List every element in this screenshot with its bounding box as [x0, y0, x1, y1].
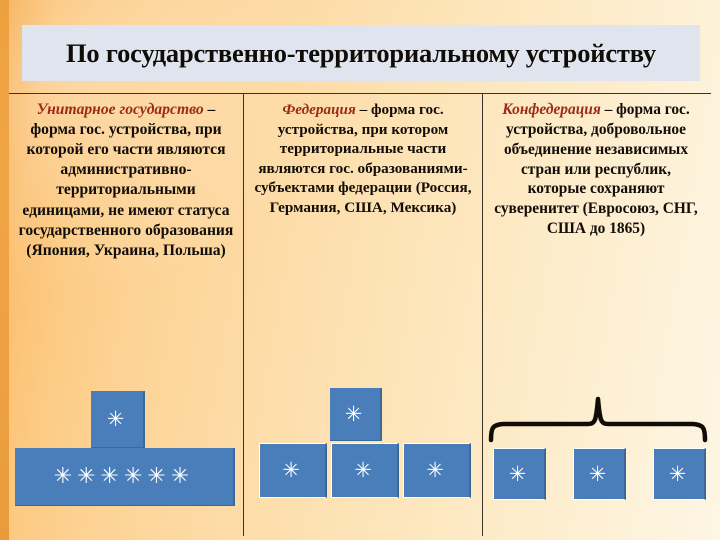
- federation-diagram: ✳ ✳ ✳ ✳: [244, 386, 482, 536]
- confederation-term: Конфедерация: [502, 101, 600, 118]
- federation-center-node: ✳: [330, 388, 382, 441]
- slide-title-box: По государственно-территориальному устро…: [22, 25, 700, 81]
- unitary-definition: – форма гос. устройства, при которой его…: [19, 101, 234, 259]
- unitary-central-node: ✳: [91, 391, 145, 448]
- federation-definition-text: Федерация – форма гос. устройства, при к…: [244, 94, 482, 218]
- unitary-admin-units-bar: ✳✳✳✳✳✳: [15, 448, 235, 506]
- unitary-term: Унитарное государство: [37, 101, 204, 118]
- slide-canvas: По государственно-территориальному устро…: [0, 0, 720, 540]
- curly-brace-icon: [487, 394, 709, 446]
- confederation-member-node: ✳: [653, 448, 706, 500]
- federation-subject-node: ✳: [331, 443, 399, 498]
- federation-definition: – форма гос. устройства, при котором тер…: [255, 101, 472, 216]
- confederation-diagram: ✳ ✳ ✳: [483, 386, 709, 536]
- comparison-table: Унитарное государство – форма гос. устро…: [9, 93, 711, 536]
- confederation-definition-text: Конфедерация – форма гос. устройства, до…: [483, 94, 709, 239]
- table-column-federation: Федерация – форма гос. устройства, при к…: [243, 94, 483, 536]
- left-edge-strip: [0, 0, 9, 540]
- unitary-diagram: ✳ ✳✳✳✳✳✳: [9, 386, 243, 536]
- table-column-confederation: Конфедерация – форма гос. устройства, до…: [483, 94, 709, 536]
- page-title: По государственно-территориальному устро…: [66, 38, 656, 69]
- confederation-member-node: ✳: [493, 448, 546, 500]
- confederation-member-node: ✳: [573, 448, 626, 500]
- federation-subject-node: ✳: [403, 443, 471, 498]
- unitary-definition-text: Унитарное государство – форма гос. устро…: [9, 94, 243, 261]
- federation-term: Федерация: [282, 101, 355, 118]
- federation-subject-node: ✳: [259, 443, 327, 498]
- table-column-unitary: Унитарное государство – форма гос. устро…: [9, 94, 243, 536]
- confederation-definition: – форма гос. устройства, добровольное об…: [494, 101, 698, 237]
